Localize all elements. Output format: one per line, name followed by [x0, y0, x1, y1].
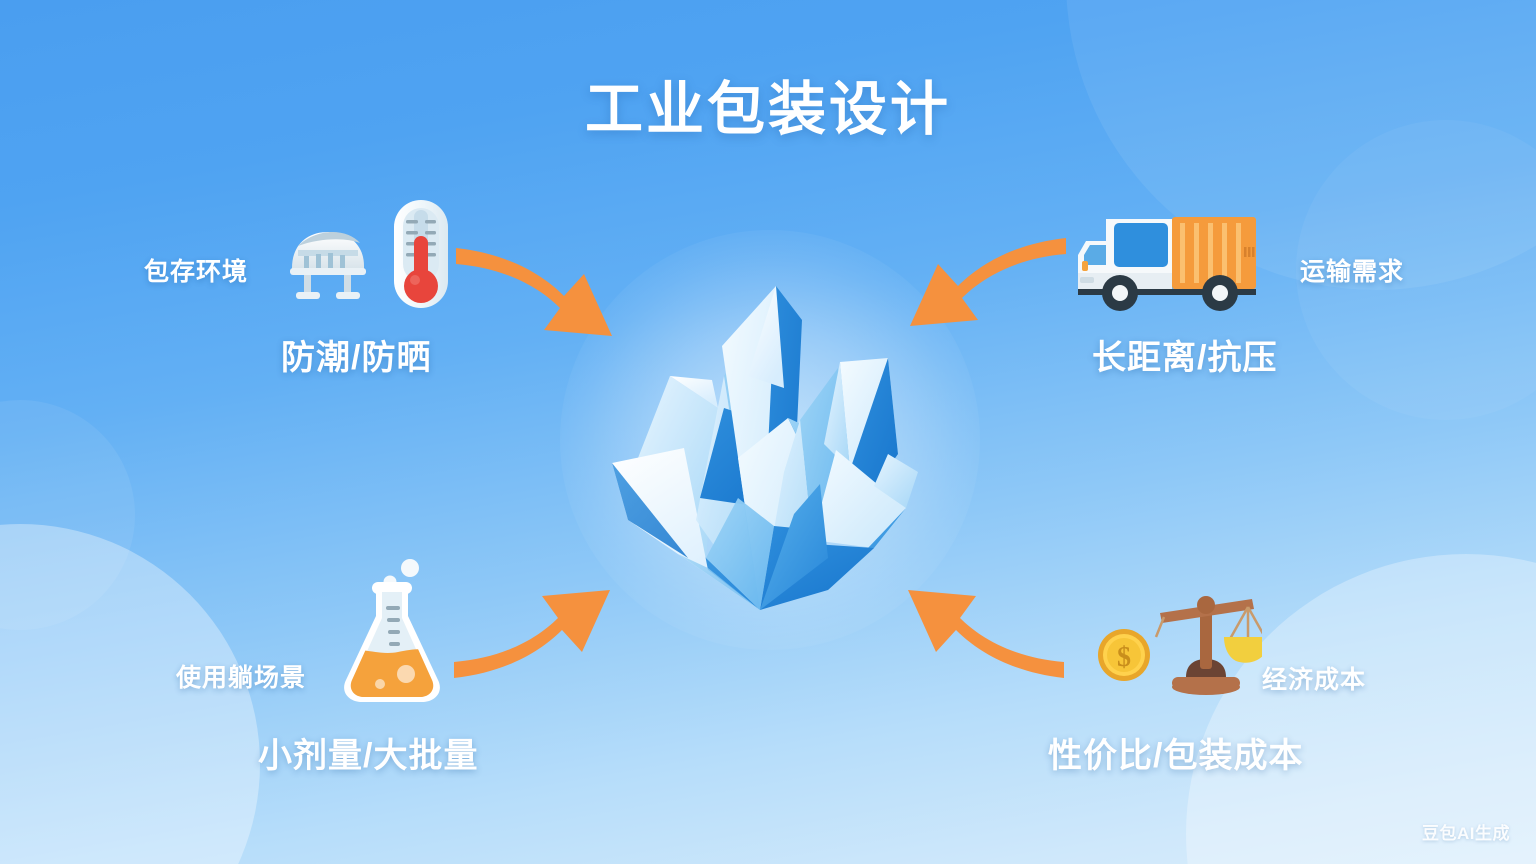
quadrant-sublabel-usage: 小剂量/大批量 — [258, 728, 478, 777]
icon-group-storage — [282, 196, 458, 317]
quadrant-sublabel-storage: 防潮/防晒 — [281, 330, 431, 379]
crystal-cluster-graphic — [588, 258, 948, 623]
quadrant-sublabel-transport: 长距离/抗压 — [1092, 330, 1277, 379]
watermark: 豆包AI生成 — [1422, 819, 1510, 844]
balance-scale-icon — [1150, 585, 1262, 702]
flask-icon — [332, 556, 452, 709]
quadrant-label-storage: 包存环境 — [144, 252, 248, 288]
icon-group-cost: $ — [1088, 585, 1262, 702]
decorative-circle-bottom-left — [0, 524, 260, 864]
svg-text:$: $ — [1117, 642, 1131, 673]
warehouse-icon — [282, 216, 378, 317]
thermometer-icon — [384, 196, 458, 317]
quadrant-label-cost: 经济成本 — [1262, 660, 1366, 696]
page-title: 工业包装设计 — [0, 62, 1536, 146]
coin-icon: $ — [1096, 627, 1152, 688]
decorative-circle-mid-left — [0, 400, 135, 630]
icon-group-transport — [1068, 205, 1264, 316]
quadrant-label-usage: 使用躺场景 — [176, 658, 306, 694]
truck-icon — [1068, 205, 1264, 316]
icon-group-usage — [332, 556, 452, 709]
quadrant-label-transport: 运输需求 — [1300, 252, 1404, 288]
quadrant-sublabel-cost: 性价比/包装成本 — [1048, 728, 1303, 777]
infographic-canvas: 工业包装设计 — [0, 0, 1536, 864]
